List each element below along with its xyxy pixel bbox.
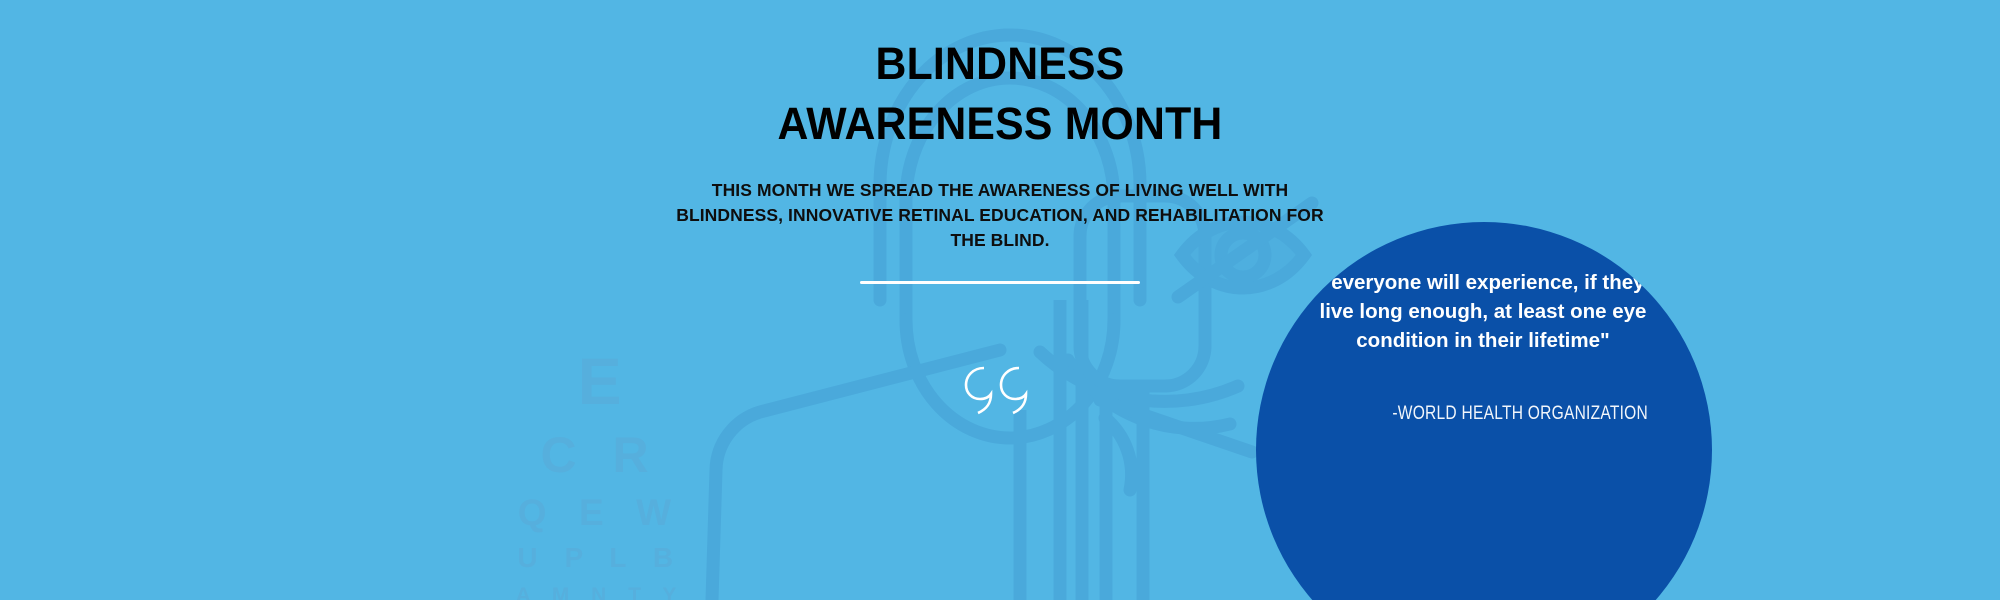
page-title-line-2: AWARENESS MONTH <box>639 98 1361 149</box>
eye-chart-row-5: A M N T Y <box>500 585 700 600</box>
shoulder-right-path <box>1068 360 1230 428</box>
shoulder-left-path <box>712 350 1000 600</box>
eye-chart-row-2: C R <box>500 430 700 480</box>
closing-double-quote-icon <box>962 358 1042 418</box>
quote-attribution: -WORLD HEALTH ORGANIZATION <box>1377 402 1648 425</box>
divider-rule <box>860 281 1140 284</box>
eye-chart: E C R Q E W U P L B A M N T Y <box>500 348 700 600</box>
quote-text: "everyone will experience, if they live … <box>1318 268 1648 355</box>
elbow-curve-path <box>1105 418 1132 490</box>
page-title-line-1: BLINDNESS <box>639 38 1361 89</box>
quote-circle: "everyone will experience, if they live … <box>1256 222 1712 600</box>
eye-chart-row-3: Q E W <box>500 494 700 531</box>
eye-chart-row-4: U P L B <box>500 544 700 572</box>
shoulder-right-outer-path <box>1040 352 1238 401</box>
blindness-awareness-banner: E C R Q E W U P L B A M N T Y BLINDNESS … <box>0 0 2000 600</box>
headline-block: BLINDNESS AWARENESS MONTH THIS MONTH WE … <box>620 38 1380 284</box>
arm-line-path <box>1100 400 1252 452</box>
eye-chart-row-1: E <box>500 348 700 414</box>
subtitle-text: THIS MONTH WE SPREAD THE AWARENESS OF LI… <box>620 178 1380 254</box>
